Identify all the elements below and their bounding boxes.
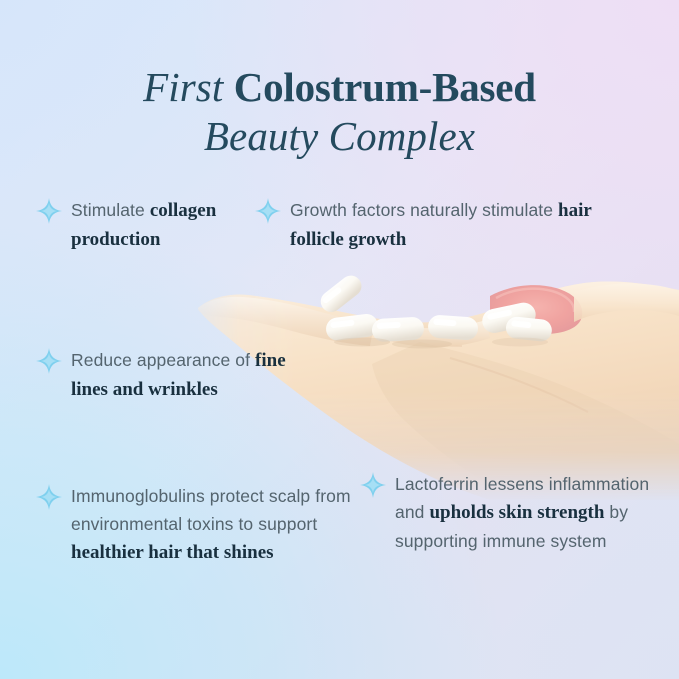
capsule-shadow — [334, 338, 390, 347]
sparkle-star-icon — [36, 484, 62, 510]
benefit-item-lactoferrin: Lactoferrin lessens inflammation and uph… — [360, 470, 650, 555]
capsule-gloss — [330, 319, 355, 328]
capsule-shadow — [492, 338, 548, 347]
promo-graphic: First Colostrum-Based Beauty Complex Sti… — [0, 0, 679, 679]
benefit-text-light: Immunoglobulins protect scalp from envir… — [71, 486, 351, 534]
hand-highlight — [252, 281, 679, 338]
benefit-item-wrinkles: Reduce appearance of fine lines and wrin… — [36, 346, 301, 404]
sparkle-star-icon — [255, 198, 281, 224]
benefit-text: Growth factors naturally stimulate hair … — [290, 196, 595, 254]
benefit-item-collagen: Stimulate collagen production — [36, 196, 251, 254]
headline-line-1: First Colostrum-Based — [0, 63, 679, 111]
capsule-gloss — [377, 322, 401, 329]
benefit-text: Stimulate collagen production — [71, 196, 251, 254]
benefit-item-hair-follicle: Growth factors naturally stimulate hair … — [255, 196, 595, 254]
sparkle-star-icon — [360, 472, 386, 498]
capsule-group — [317, 272, 553, 349]
page-title: First Colostrum-Based Beauty Complex — [0, 63, 679, 160]
headline-first-word: First — [143, 64, 234, 110]
benefit-text: Reduce appearance of fine lines and wrin… — [71, 346, 301, 404]
palm-line — [450, 358, 588, 412]
benefit-text-light: Stimulate — [71, 200, 150, 220]
index-finger — [198, 297, 374, 346]
benefit-text-light: Growth factors naturally stimulate — [290, 200, 558, 220]
thumb-pad — [490, 285, 582, 334]
capsule-gloss — [487, 309, 513, 320]
benefit-text: Immunoglobulins protect scalp from envir… — [71, 482, 356, 567]
capsule — [325, 313, 379, 342]
sparkle-star-icon — [36, 198, 62, 224]
capsule — [427, 314, 478, 340]
thumb-highlight — [496, 289, 574, 312]
benefit-item-immunoglobulins: Immunoglobulins protect scalp from envir… — [36, 482, 356, 567]
sparkle-star-icon — [36, 348, 62, 374]
middle-fingers — [372, 320, 490, 347]
benefit-text-light: Reduce appearance of — [71, 350, 255, 370]
capsule — [505, 316, 553, 343]
capsule — [480, 300, 538, 335]
benefit-text-bold: upholds skin strength — [429, 502, 604, 523]
capsule-gloss — [433, 319, 456, 327]
capsule-shadow — [392, 340, 452, 349]
finger-crease-1 — [374, 326, 438, 331]
capsule — [317, 272, 366, 316]
capsule — [371, 317, 424, 343]
thumb-body — [574, 283, 679, 322]
finger-crease-2 — [386, 334, 462, 346]
benefit-text: Lactoferrin lessens inflammation and uph… — [395, 470, 650, 555]
headline-line-2: Beauty Complex — [0, 112, 679, 160]
capsule-gloss — [511, 320, 532, 328]
capsule-gloss — [322, 286, 343, 304]
benefit-text-bold: healthier hair that shines — [71, 542, 274, 563]
headline-emphasis: Colostrum-Based — [234, 64, 536, 110]
